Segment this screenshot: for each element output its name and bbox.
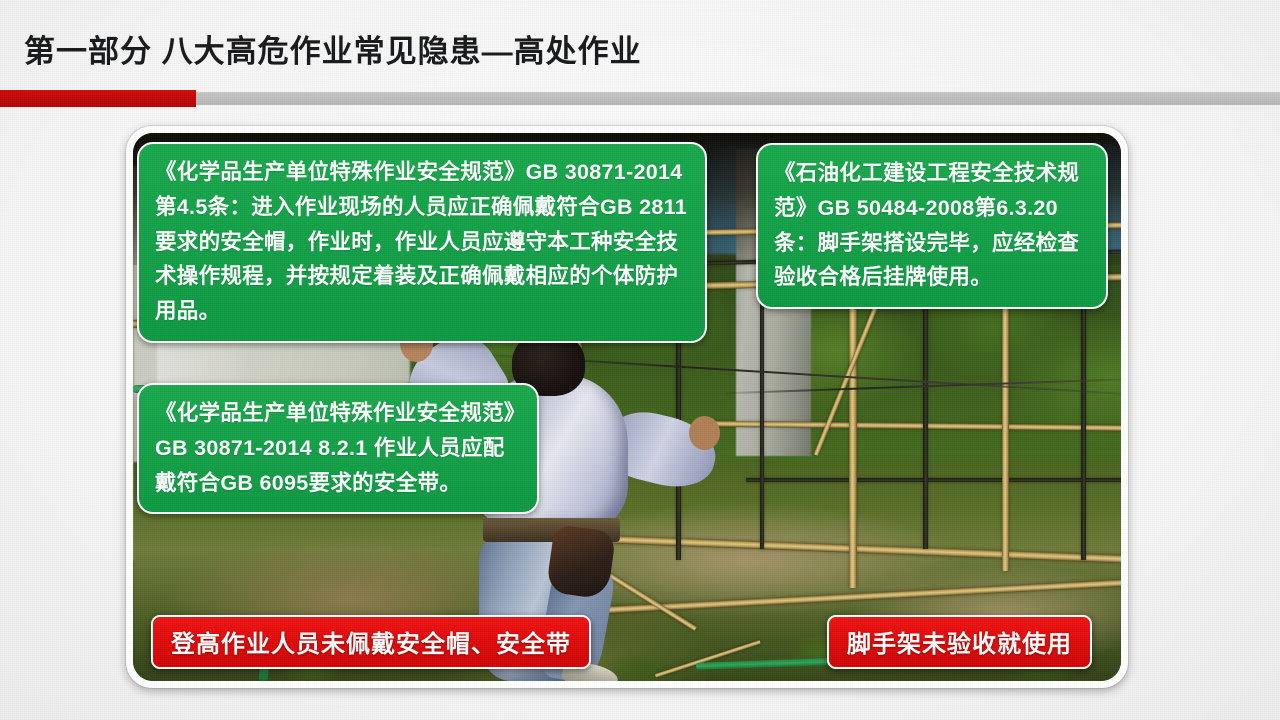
page-title: 第一部分 八大高危作业常见隐患—高处作业 [24, 26, 642, 71]
hazard-caption-right: 脚手架未验收就使用 [827, 615, 1092, 669]
regulation-callout-helmet: 《化学品生产单位特殊作业安全规范》GB 30871-2014 第4.5条：进入作… [137, 142, 707, 343]
title-divider [0, 90, 1280, 107]
regulation-callout-safety-belt: 《化学品生产单位特殊作业安全规范》GB 30871-2014 8.2.1 作业人… [137, 383, 539, 514]
worker-right-hand [689, 416, 720, 450]
divider-red-segment [0, 90, 196, 107]
hazard-caption-left: 登高作业人员未佩戴安全帽、安全带 [151, 615, 591, 669]
regulation-callout-scaffold-inspection: 《石油化工建设工程安全技术规范》GB 50484-2008第6.3.20条：脚手… [756, 143, 1108, 309]
scaffold-pole-horizontal-dark [746, 478, 1121, 482]
divider-gray-segment [196, 92, 1280, 105]
